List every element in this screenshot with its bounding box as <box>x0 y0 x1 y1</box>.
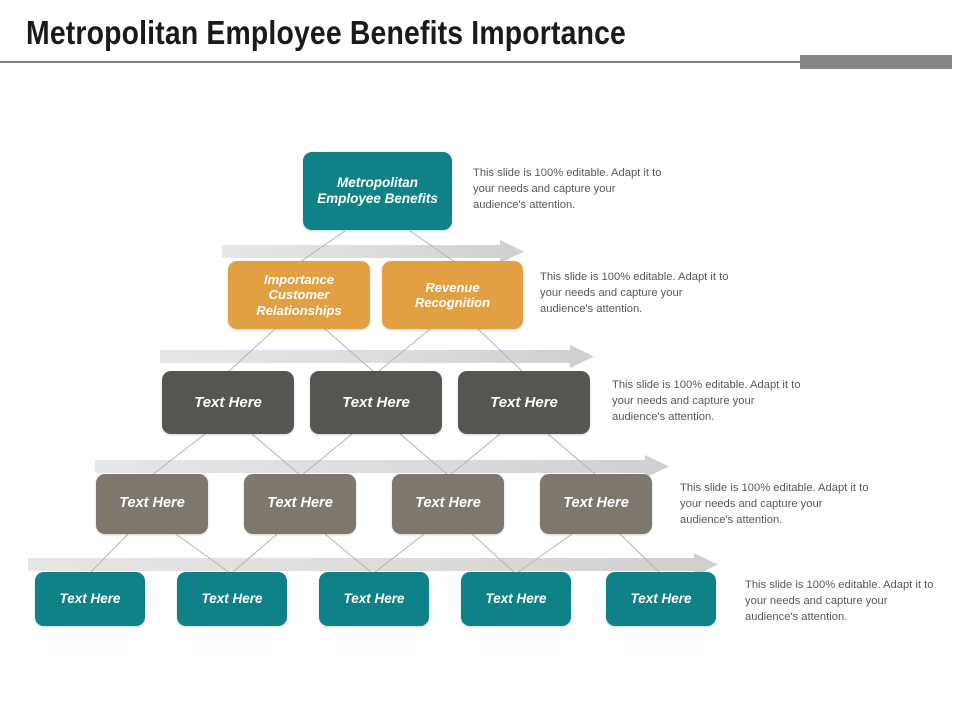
node-row5-1[interactable]: Text Here <box>35 572 145 626</box>
node-label: Revenue Recognition <box>388 280 517 311</box>
node-row4-2[interactable]: Text Here <box>244 474 356 534</box>
node-row3-2[interactable]: Text Here <box>310 371 442 434</box>
node-label: Text Here <box>342 394 410 412</box>
row-arrow-3 <box>160 345 594 368</box>
node-row4-1[interactable]: Text Here <box>96 474 208 534</box>
node-label: Text Here <box>485 591 546 607</box>
node-row5-5[interactable]: Text Here <box>606 572 716 626</box>
node-row4-3[interactable]: Text Here <box>392 474 504 534</box>
node-label: Text Here <box>343 591 404 607</box>
note-row-2: This slide is 100% editable. Adapt it to… <box>540 270 736 318</box>
node-row4-4[interactable]: Text Here <box>540 474 652 534</box>
node-label: Text Here <box>59 591 120 607</box>
node-row2-1[interactable]: Importance Customer Relationships <box>228 261 370 329</box>
slide-canvas: Metropolitan Employee Benefits Importanc… <box>0 0 960 720</box>
node-row3-1[interactable]: Text Here <box>162 371 294 434</box>
node-row2-2[interactable]: Revenue Recognition <box>382 261 523 329</box>
node-label: Text Here <box>563 495 629 512</box>
node-label: Metropolitan Employee Benefits <box>309 175 446 207</box>
node-row3-3[interactable]: Text Here <box>458 371 590 434</box>
node-row1-1[interactable]: Metropolitan Employee Benefits <box>303 152 452 230</box>
node-label: Text Here <box>267 495 333 512</box>
note-row-3: This slide is 100% editable. Adapt it to… <box>612 378 808 426</box>
node-label: Text Here <box>415 495 481 512</box>
node-row5-3[interactable]: Text Here <box>319 572 429 626</box>
note-row-4: This slide is 100% editable. Adapt it to… <box>680 481 876 529</box>
node-row5-4[interactable]: Text Here <box>461 572 571 626</box>
pyramid-diagram: Metropolitan Employee Benefits This slid… <box>0 0 960 720</box>
node-label: Text Here <box>630 591 691 607</box>
row-arrow-2 <box>222 240 524 263</box>
note-row-5: This slide is 100% editable. Adapt it to… <box>745 578 941 626</box>
node-label: Text Here <box>194 394 262 412</box>
node-row5-2[interactable]: Text Here <box>177 572 287 626</box>
node-label: Text Here <box>119 495 185 512</box>
node-label: Text Here <box>490 394 558 412</box>
node-label: Text Here <box>201 591 262 607</box>
note-row-1: This slide is 100% editable. Adapt it to… <box>473 166 668 214</box>
node-label: Importance Customer Relationships <box>234 272 364 318</box>
